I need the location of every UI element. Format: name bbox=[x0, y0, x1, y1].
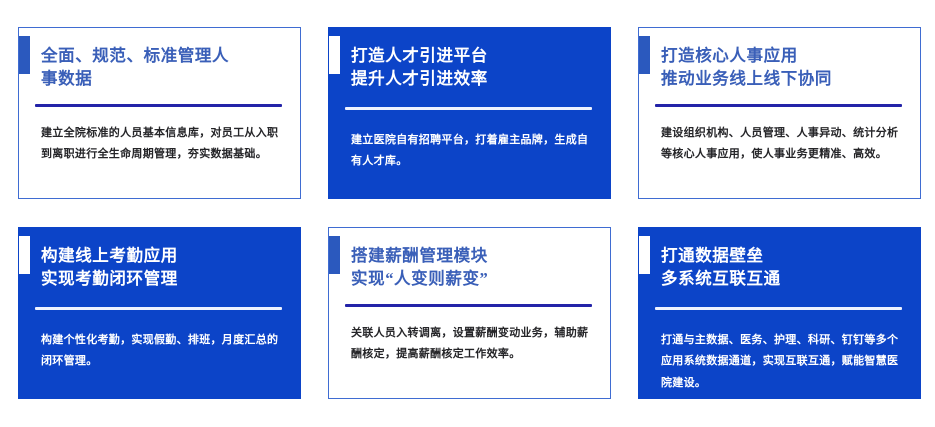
card-title: 打造人才引进平台 提升人才引进效率 bbox=[351, 44, 594, 91]
card-body: 构建个性化考勤，实现假勤、排班，月度汇总的闭环管理。 bbox=[41, 310, 284, 373]
card-title: 打造核心人事应用 推动业务线上线下协同 bbox=[661, 44, 904, 91]
card-title: 全面、规范、标准管理人 事数据 bbox=[41, 44, 284, 91]
feature-card-hr-data-management[interactable]: 全面、规范、标准管理人 事数据 建立全院标准的人员基本信息库，对员工从入职到离职… bbox=[18, 27, 301, 199]
slide-canvas: 全面、规范、标准管理人 事数据 建立全院标准的人员基本信息库，对员工从入职到离职… bbox=[0, 0, 935, 427]
accent-bar-icon bbox=[639, 236, 650, 274]
accent-bar-icon bbox=[19, 236, 30, 274]
feature-card-online-attendance[interactable]: 构建线上考勤应用 实现考勤闭环管理 构建个性化考勤，实现假勤、排班，月度汇总的闭… bbox=[18, 227, 301, 399]
card-body: 关联人员入转调离，设置薪酬变动业务，辅助薪酬核定，提高薪酬核定工作效率。 bbox=[351, 307, 594, 366]
card-title: 构建线上考勤应用 实现考勤闭环管理 bbox=[41, 244, 284, 291]
card-body: 建设组织机构、人员管理、人事异动、统计分析等核心人事应用，使人事业务更精准、高效… bbox=[661, 107, 904, 166]
accent-bar-icon bbox=[329, 36, 340, 74]
accent-bar-icon bbox=[19, 36, 30, 74]
card-title: 打通数据壁垒 多系统互联互通 bbox=[661, 244, 904, 291]
feature-card-talent-recruiting-platform[interactable]: 打造人才引进平台 提升人才引进效率 建立医院自有招聘平台，打着雇主品牌，生成自有… bbox=[328, 27, 611, 199]
feature-card-core-hr-application[interactable]: 打造核心人事应用 推动业务线上线下协同 建设组织机构、人员管理、人事异动、统计分… bbox=[638, 27, 921, 199]
feature-card-grid: 全面、规范、标准管理人 事数据 建立全院标准的人员基本信息库，对员工从入职到离职… bbox=[18, 27, 917, 399]
card-body: 打通与主数据、医务、护理、科研、钉钉等多个应用系统数据通道，实现互联互通，赋能智… bbox=[661, 310, 904, 394]
accent-bar-icon bbox=[329, 236, 340, 274]
card-body: 建立医院自有招聘平台，打着雇主品牌，生成自有人才库。 bbox=[351, 110, 594, 173]
feature-card-compensation-module[interactable]: 搭建薪酬管理模块 实现“人变则薪变” 关联人员入转调离，设置薪酬变动业务，辅助薪… bbox=[328, 227, 611, 399]
feature-card-data-interconnection[interactable]: 打通数据壁垒 多系统互联互通 打通与主数据、医务、护理、科研、钉钉等多个应用系统… bbox=[638, 227, 921, 399]
card-body: 建立全院标准的人员基本信息库，对员工从入职到离职进行全生命周期管理，夯实数据基础… bbox=[41, 107, 284, 166]
card-title: 搭建薪酬管理模块 实现“人变则薪变” bbox=[351, 244, 594, 291]
accent-bar-icon bbox=[639, 36, 650, 74]
